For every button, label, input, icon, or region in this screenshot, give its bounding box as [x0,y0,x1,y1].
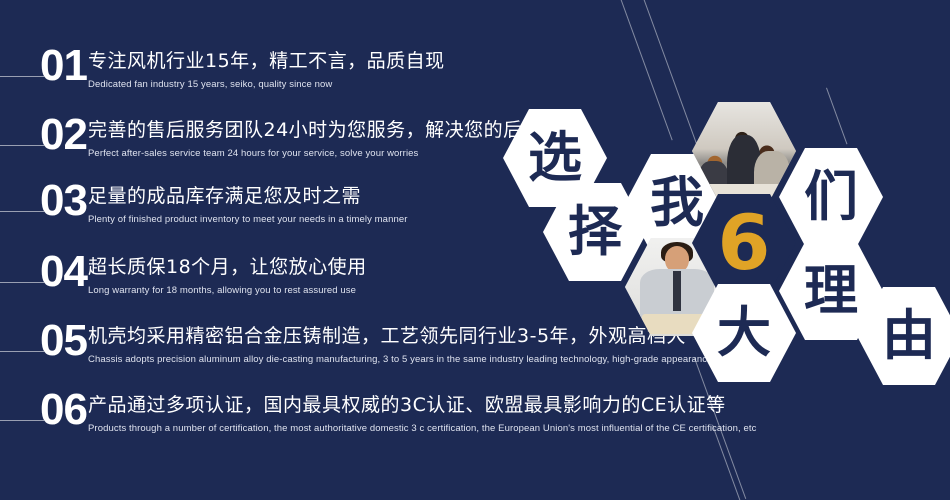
reason-headline-cn: 专注风机行业15年，精工不言，品质自现 [88,50,445,72]
reason-rule [0,211,44,212]
hex-glyph: 选 [528,131,582,185]
reason-rule [0,420,44,421]
reason-subtitle-en: Products through a number of certificati… [88,423,756,434]
reason-headline-cn: 产品通过多项认证，国内最具权威的3C认证、欧盟最具影响力的CE认证等 [88,394,726,416]
reason-text: 超长质保18个月，让您放心使用 Long warranty for 18 mon… [88,256,367,298]
hex-cell-men: 们 [779,146,883,248]
reason-number: 05 [40,319,87,363]
reason-number: 01 [40,44,87,88]
reason-subtitle-en: Long warranty for 18 months, allowing yo… [88,285,356,296]
hex-glyph: 我 [650,176,704,230]
hex-glyph-six: 6 [718,205,771,281]
reason-text: 足量的成品库存满足您及时之需 Plenty of finished produc… [88,185,407,227]
reason-headline-cn: 足量的成品库存满足您及时之需 [88,185,361,207]
hex-glyph: 择 [568,205,622,259]
reason-text: 产品通过多项认证，国内最具权威的3C认证、欧盟最具影响力的CE认证等 Produ… [88,394,756,436]
promo-banner: 01 专注风机行业15年，精工不言，品质自现 Dedicated fan ind… [0,0,950,500]
hex-glyph: 理 [804,264,858,318]
reason-rule [0,351,44,352]
reason-subtitle-en: Perfect after-sales service team 24 hour… [88,148,418,159]
reason-rule [0,282,44,283]
reason-text: 专注风机行业15年，精工不言，品质自现 Dedicated fan indust… [88,50,445,92]
hex-glyph: 大 [717,306,771,360]
reason-number: 03 [40,179,87,223]
reason-subtitle-en: Chassis adopts precision aluminum alloy … [88,354,766,365]
reason-number: 04 [40,250,87,294]
reason-rule [0,76,44,77]
reason-headline-cn: 超长质保18个月，让您放心使用 [88,256,367,278]
hex-glyph: 由 [882,309,936,363]
reason-number: 06 [40,388,87,432]
reason-rule [0,145,44,146]
reason-subtitle-en: Plenty of finished product inventory to … [88,214,407,225]
reason-subtitle-en: Dedicated fan industry 15 years, seiko, … [88,79,332,90]
reason-headline-cn: 完善的售后服务团队24小时为您服务，解决您的后顾之忧 [88,119,581,141]
diagonal-line-3 [826,88,847,145]
reason-headline-cn: 机壳均采用精密铝合金压铸制造，工艺领先同行业3-5年，外观高档大气 [88,325,706,347]
reason-number: 02 [40,113,87,157]
hex-glyph: 们 [804,170,858,224]
